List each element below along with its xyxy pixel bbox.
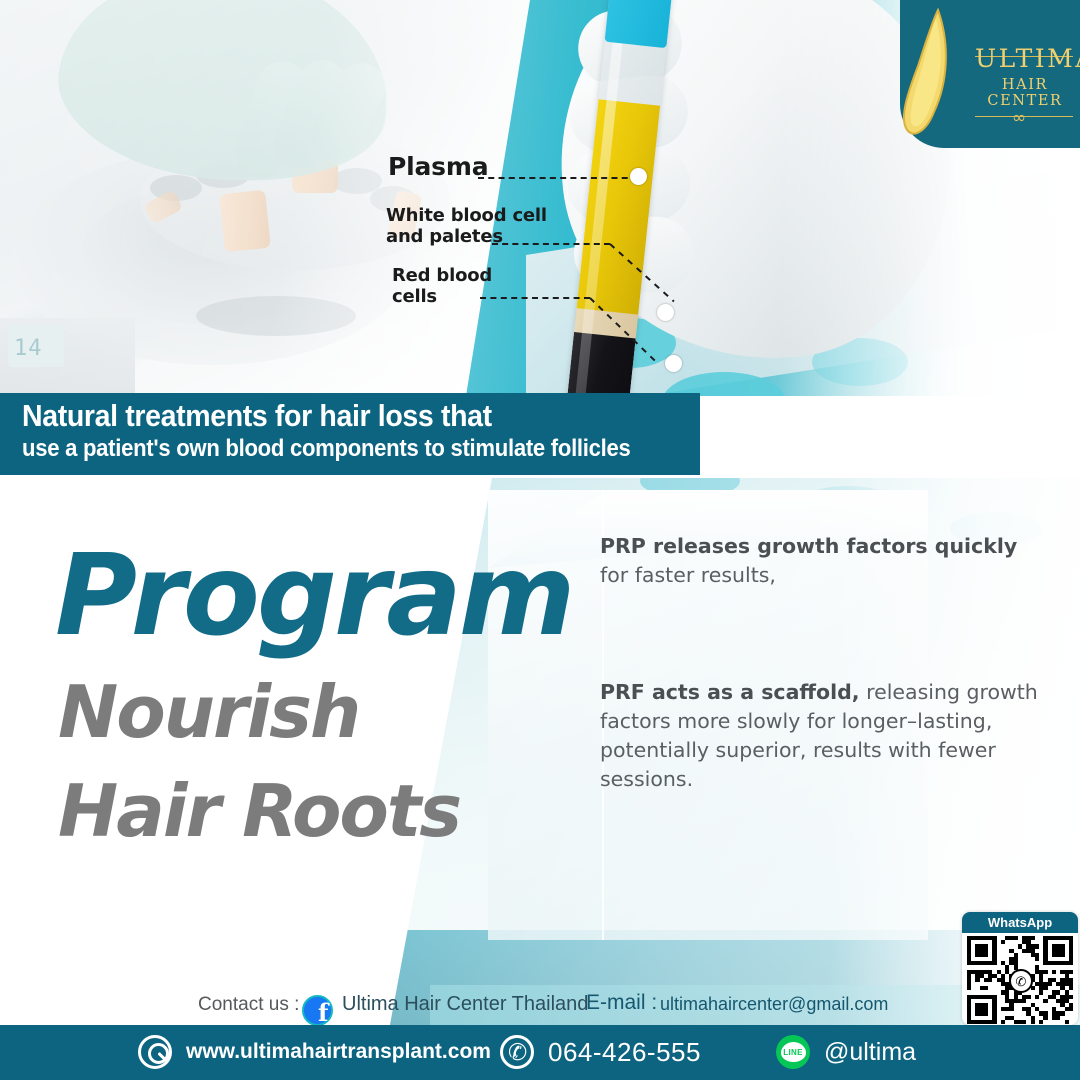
leader-line-wbc-diag <box>609 243 674 302</box>
leader-line-plasma <box>478 177 638 179</box>
logo-text-block: ULTIMA HAIR CENTER <box>975 46 1075 109</box>
contact-us-label: Contact us : <box>198 994 299 1016</box>
website-icon <box>138 1035 172 1069</box>
email-label: E-mail : <box>586 991 657 1015</box>
footer-website-text: www.ultimahairtransplant.com <box>186 1040 491 1064</box>
whatsapp-icon: ✆ <box>1009 969 1033 993</box>
body-copy-prf: PRF acts as a scaffold, releasing growth… <box>600 678 1040 794</box>
leader-line-rbc <box>480 297 590 299</box>
page-title-program: Program <box>55 540 573 652</box>
top-photo-band: 14 <box>0 0 1080 396</box>
logo-title: ULTIMA <box>975 46 1075 71</box>
callout-dot-plasma <box>630 168 647 185</box>
line-icon: LINE <box>776 1035 810 1069</box>
qr-cell <box>1069 1020 1073 1024</box>
facebook-page-name[interactable]: Ultima Hair Center Thailand <box>342 993 588 1016</box>
callout-label-rbc: Red blood cells <box>392 266 492 307</box>
callout-rbc-line1: Red blood <box>392 266 492 287</box>
facebook-icon[interactable]: f <box>302 995 333 1026</box>
page-subtitle-nourish: Nourish <box>58 676 359 748</box>
phone-icon <box>500 1035 534 1069</box>
body-copy-prp-bold: PRP releases growth factors quickly <box>600 534 1017 558</box>
footer-phone-text: 064-426-555 <box>548 1037 701 1068</box>
callout-label-plasma: Plasma <box>388 153 488 182</box>
line-icon-text: LINE <box>783 1048 802 1057</box>
footer-line-id: @ultima <box>824 1038 916 1067</box>
footer-bar: www.ultimahairtransplant.com 064-426-555… <box>0 1025 1080 1080</box>
whatsapp-glyph: ✆ <box>1016 975 1027 988</box>
body-copy-prp: PRP releases growth factors quickly for … <box>600 532 1040 590</box>
line-bubble-shape: LINE <box>781 1042 806 1062</box>
footer-phone-item[interactable]: 064-426-555 <box>500 1035 701 1069</box>
poster-root: 14 <box>0 0 1080 1080</box>
callout-wbc-line1: White blood cell <box>386 206 547 227</box>
leader-line-wbc <box>492 243 610 245</box>
callout-dot-wbc <box>657 304 674 321</box>
facebook-f-glyph: f <box>318 1001 328 1025</box>
leader-line-rbc-diag <box>589 297 658 364</box>
email-value[interactable]: ultimahaircenter@gmail.com <box>660 994 888 1015</box>
whatsapp-qr-card[interactable]: WhatsApp ✆ <box>962 912 1078 1025</box>
banner-line-2: use a patient's own blood components to … <box>22 435 631 463</box>
body-copy-prf-bold: PRF acts as a scaffold, <box>600 680 860 704</box>
contact-row: Contact us : Ultima Hair Center Thailand… <box>0 985 1080 1025</box>
footer-website-item[interactable]: www.ultimahairtransplant.com <box>138 1035 491 1069</box>
body-copy-prp-rest: for faster results, <box>600 563 776 587</box>
page-subtitle-hair-roots: Hair Roots <box>58 775 460 847</box>
callout-rbc-line2: cells <box>392 287 492 308</box>
qr-card-title: WhatsApp <box>962 912 1078 933</box>
logo-infinity-icon: ∞ <box>1012 110 1026 127</box>
hair-follicle-droplet-icon <box>898 8 960 144</box>
callout-label-wbc: White blood cell and paletes <box>386 206 547 247</box>
footer-line-item[interactable]: LINE @ultima <box>776 1035 916 1069</box>
banner-line-1: Natural treatments for hair loss that <box>22 398 492 434</box>
callout-dot-rbc <box>665 355 682 372</box>
headline-banner: Natural treatments for hair loss that us… <box>0 393 700 475</box>
logo-subtitle: HAIR CENTER <box>975 77 1075 109</box>
